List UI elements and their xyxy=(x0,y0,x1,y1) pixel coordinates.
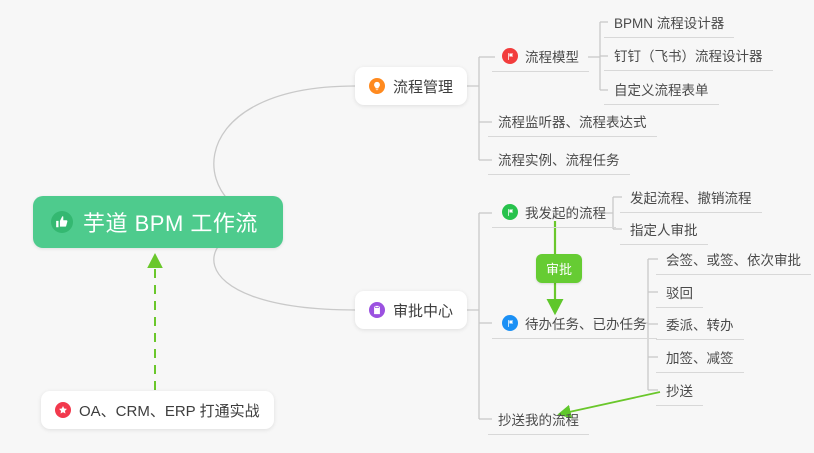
node-label-process-management: 流程管理 xyxy=(393,76,453,97)
leaf-label: 加签、减签 xyxy=(666,347,734,367)
leaf-label: 抄送我的流程 xyxy=(498,409,579,429)
blue-flag-icon xyxy=(502,315,518,331)
leaf-reject[interactable]: 驳回 xyxy=(656,279,703,308)
node-label-my-started-processes: 我发起的流程 xyxy=(525,202,606,222)
node-todo-done-tasks[interactable]: 待办任务、已办任务 xyxy=(492,310,657,339)
leaf-label: 委派、转办 xyxy=(666,314,734,334)
node-process-management[interactable]: 流程管理 xyxy=(355,67,467,105)
leaf-dingtalk-designer[interactable]: 钉钉（飞书）流程设计器 xyxy=(604,42,773,71)
leaf-label: 驳回 xyxy=(666,282,693,302)
leaf-countersign[interactable]: 会签、或签、依次审批 xyxy=(656,246,811,275)
node-my-started-processes[interactable]: 我发起的流程 xyxy=(492,199,616,228)
leaf-label: 自定义流程表单 xyxy=(614,79,709,99)
node-approval-center[interactable]: 审批中心 xyxy=(355,291,467,329)
tag-approval: 审批 xyxy=(536,254,582,283)
leaf-custom-form[interactable]: 自定义流程表单 xyxy=(604,76,719,105)
leaf-cc[interactable]: 抄送 xyxy=(656,377,703,406)
green-flag-icon xyxy=(502,204,518,220)
thumbs-up-icon xyxy=(51,211,73,233)
leaf-label: 会签、或签、依次审批 xyxy=(666,249,801,269)
node-label-integration-practice: OA、CRM、ERP 打通实战 xyxy=(79,400,260,421)
leaf-instance-task[interactable]: 流程实例、流程任务 xyxy=(488,146,630,175)
leaf-label: 抄送 xyxy=(666,380,693,400)
lightbulb-icon xyxy=(369,78,385,94)
root-node[interactable]: 芋道 BPM 工作流 xyxy=(33,196,283,248)
mindmap-canvas: 芋道 BPM 工作流 流程管理 流程模型 BPMN 流程设计器 钉钉（飞书）流程… xyxy=(0,0,814,453)
leaf-label: 钉钉（飞书）流程设计器 xyxy=(614,45,763,65)
root-label: 芋道 BPM 工作流 xyxy=(83,206,258,238)
clipboard-icon xyxy=(369,302,385,318)
node-integration-practice[interactable]: OA、CRM、ERP 打通实战 xyxy=(41,391,274,429)
leaf-assigned-approver[interactable]: 指定人审批 xyxy=(620,216,708,245)
leaf-cc-to-me[interactable]: 抄送我的流程 xyxy=(488,406,589,435)
red-star-icon xyxy=(55,402,71,418)
leaf-listener-expression[interactable]: 流程监听器、流程表达式 xyxy=(488,108,657,137)
leaf-bpmn-designer[interactable]: BPMN 流程设计器 xyxy=(604,9,734,38)
leaf-label: 发起流程、撤销流程 xyxy=(630,187,752,207)
leaf-start-cancel-process[interactable]: 发起流程、撤销流程 xyxy=(620,184,762,213)
leaf-label: BPMN 流程设计器 xyxy=(614,12,724,32)
leaf-label: 流程实例、流程任务 xyxy=(498,149,620,169)
red-flag-icon xyxy=(502,48,518,64)
leaf-label: 指定人审批 xyxy=(630,219,698,239)
leaf-delegate-transfer[interactable]: 委派、转办 xyxy=(656,311,744,340)
node-label-approval-center: 审批中心 xyxy=(393,300,453,321)
leaf-label: 流程监听器、流程表达式 xyxy=(498,111,647,131)
node-label-process-model: 流程模型 xyxy=(525,46,579,66)
leaf-add-remove-sign[interactable]: 加签、减签 xyxy=(656,344,744,373)
node-label-todo-done-tasks: 待办任务、已办任务 xyxy=(525,313,647,333)
node-process-model[interactable]: 流程模型 xyxy=(492,43,589,72)
